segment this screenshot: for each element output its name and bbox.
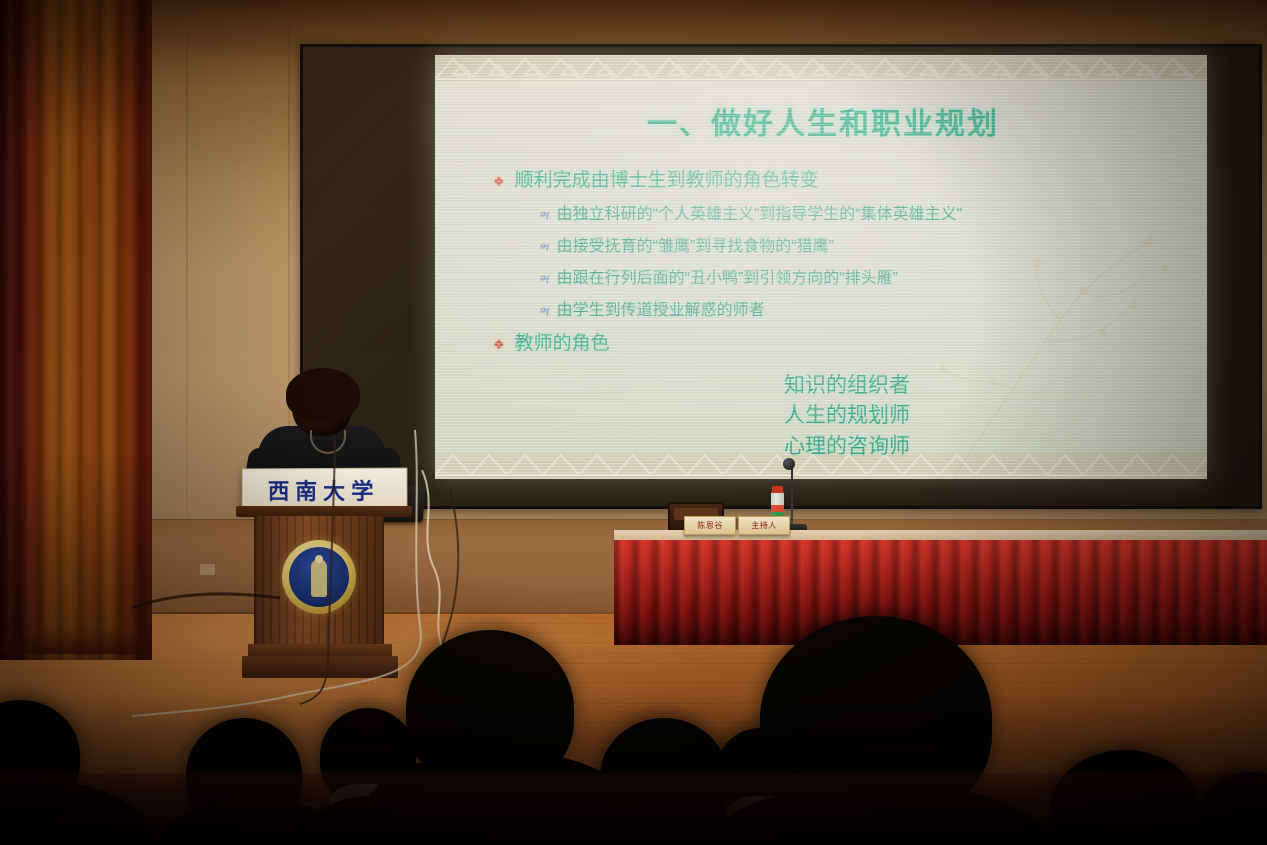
slide-bullet-level2: ભ 由跟在行列后面的“丑小鸭”到引领方向的“排头雁” xyxy=(539,264,1181,288)
slide-bullet-level1: ❖ 教师的角色 xyxy=(493,328,1181,355)
slide-content: 一、做好人生和职业规划 ❖ 顺利完成由博士生到教师的角色转变 ભ 由独立科研的“… xyxy=(435,81,1207,453)
cr-bullet-icon: ભ xyxy=(539,272,549,287)
diamond-bullet-icon: ❖ xyxy=(493,175,505,188)
lecture-hall-photo: 一、做好人生和职业规划 ❖ 顺利完成由博士生到教师的角色转变 ભ 由独立科研的“… xyxy=(0,0,1267,845)
slide-bullet-text: 顺利完成由博士生到教师的角色转变 xyxy=(515,165,819,192)
projected-slide: 一、做好人生和职业规划 ❖ 顺利完成由博士生到教师的角色转变 ભ 由独立科研的“… xyxy=(435,55,1207,479)
microphone-gooseneck xyxy=(791,466,793,526)
slide-bullet-text: 由独立科研的“个人英雄主义”到指导学生的“集体英雄主义” xyxy=(557,200,962,224)
diamond-bullet-icon: ❖ xyxy=(493,338,505,351)
floor-cable-coil xyxy=(130,588,300,614)
water-bottle-cap xyxy=(772,486,783,493)
nameplate-text: 陈恩谷 xyxy=(697,520,723,531)
slide-bullet-level2: ભ 由接受抚育的“雏鹰”到寻找食物的“猎鹰” xyxy=(539,232,1181,256)
floor-cables xyxy=(120,430,640,730)
hanging-cable xyxy=(400,470,540,660)
table-skirt-shading xyxy=(614,540,1267,645)
ornament-pattern-icon xyxy=(435,55,1207,81)
cr-bullet-icon: ભ xyxy=(539,208,549,223)
slide-bullet-level1: ❖ 顺利完成由博士生到教师的角色转变 xyxy=(493,165,1181,192)
head-table-skirt xyxy=(614,540,1267,645)
cr-bullet-icon: ભ xyxy=(539,240,549,255)
slide-bullet-text: 由学生到传道授业解惑的师者 xyxy=(557,296,765,320)
slide-title: 一、做好人生和职业规划 xyxy=(465,99,1181,143)
slide-bullet-text: 教师的角色 xyxy=(515,328,610,355)
slide-bullet-level2: ભ 由学生到传道授业解惑的师者 xyxy=(539,296,1181,320)
head-table-nameplate: 主持人 xyxy=(738,516,790,535)
nameplate-text: 主持人 xyxy=(751,520,777,531)
head-table-nameplate: 陈恩谷 xyxy=(684,516,736,535)
slide-bullet-text: 由跟在行列后面的“丑小鸭”到引领方向的“排头雁” xyxy=(557,264,898,288)
cr-bullet-icon: ભ xyxy=(539,304,549,319)
speaker-hair xyxy=(286,368,360,420)
slide-role-item: 人生的规划师 xyxy=(513,401,1181,431)
microphone-head-icon xyxy=(783,458,795,470)
slide-top-ornament-border xyxy=(435,55,1207,81)
slide-role-item: 知识的组织者 xyxy=(513,371,1181,401)
slide-bullet-text: 由接受抚育的“雏鹰”到寻找食物的“猎鹰” xyxy=(557,232,834,256)
slide-bullet-level2: ભ 由独立科研的“个人英雄主义”到指导学生的“集体英雄主义” xyxy=(539,200,1181,224)
